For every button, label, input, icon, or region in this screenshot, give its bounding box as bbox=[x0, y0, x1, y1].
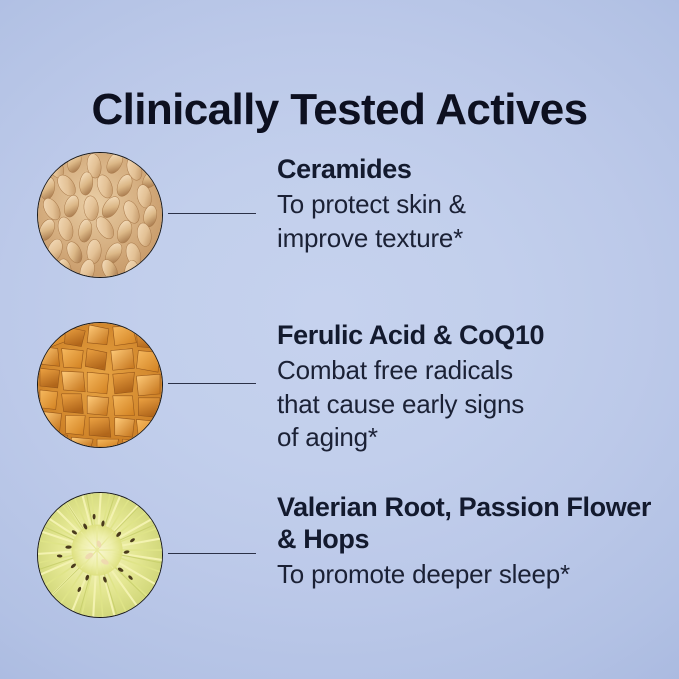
description-line: To protect skin & bbox=[277, 188, 672, 222]
ingredient-name-line: Valerian Root, bbox=[277, 492, 451, 522]
wheat-grains-photo bbox=[37, 152, 163, 278]
ingredient-text-ferulic-acid-coq10: Ferulic Acid & CoQ10 Combat free radical… bbox=[277, 320, 672, 455]
description-line: improve texture* bbox=[277, 222, 672, 256]
description-line: of aging* bbox=[277, 421, 672, 455]
connector-line-ceramides bbox=[168, 213, 256, 214]
poster-canvas: Clinically Tested Actives bbox=[0, 0, 679, 679]
ingredient-description: Combat free radicals that cause early si… bbox=[277, 354, 672, 455]
ingredient-description: To protect skin & improve texture* bbox=[277, 188, 672, 256]
passion-flower-photo bbox=[37, 492, 163, 618]
description-line: To promote deeper sleep* bbox=[277, 558, 672, 592]
ingredient-name: Ferulic Acid & CoQ10 bbox=[277, 320, 672, 352]
description-line: Combat free radicals bbox=[277, 354, 672, 388]
connector-line-valerian-passion-hops bbox=[168, 553, 256, 554]
ingredient-name: Valerian Root, Passion Flower & Hops bbox=[277, 492, 672, 556]
connector-line-ferulic-acid-coq10 bbox=[168, 383, 256, 384]
ingredient-name: Ceramides bbox=[277, 154, 672, 186]
page-title: Clinically Tested Actives bbox=[0, 87, 679, 133]
ingredient-text-valerian-passion-hops: Valerian Root, Passion Flower & Hops To … bbox=[277, 492, 672, 592]
turmeric-chunks-photo bbox=[37, 322, 163, 448]
ingredient-description: To promote deeper sleep* bbox=[277, 558, 672, 592]
description-line: that cause early signs bbox=[277, 388, 672, 422]
ingredient-text-ceramides: Ceramides To protect skin & improve text… bbox=[277, 154, 672, 255]
